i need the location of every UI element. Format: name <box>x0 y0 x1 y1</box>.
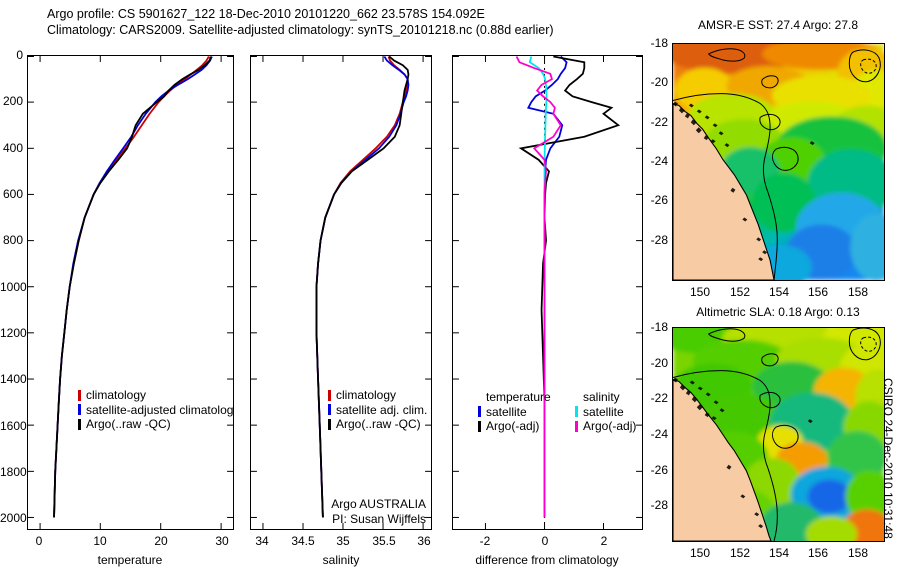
difference-legend-temperature: temperature satellite Argo(-adj) <box>478 390 551 434</box>
temp-ytick-1000: 1000 <box>0 280 23 294</box>
legend-item-satellite-adjusted: satellite adj. clim. <box>328 403 427 418</box>
sst-ytick-28: -28 <box>640 233 668 247</box>
sst-ytick-18: -18 <box>640 36 668 50</box>
temperature-profile-panel <box>27 55 234 530</box>
temp-ytick-400: 400 <box>0 141 23 155</box>
climatology-color-swatch <box>328 390 331 401</box>
legend-item-temp-satellite: satellite <box>478 405 551 420</box>
legend-label-sal-argo: Argo(-adj) <box>583 419 636 434</box>
temperature-climatology-line <box>54 56 209 517</box>
legend-label-argo: Argo(..raw -QC) <box>336 417 421 432</box>
legend-label-temp-satellite: satellite <box>486 405 527 420</box>
difference-plot <box>453 56 642 529</box>
sla-ytick-20: -20 <box>640 356 668 370</box>
difference-panel <box>452 55 643 530</box>
sla-ytick-18: -18 <box>640 320 668 334</box>
temp-xtick-0: 0 <box>36 534 43 548</box>
sst-ytick-24: -24 <box>640 154 668 168</box>
temp-xtick-20: 20 <box>154 534 167 548</box>
salinity-axis-ticks <box>251 56 431 529</box>
diff-xtick-neg2: -2 <box>480 534 491 548</box>
salinity-profile-plot <box>251 56 431 529</box>
sla-map-plot <box>673 328 884 541</box>
temp-xtick-10: 10 <box>93 534 106 548</box>
diff-xtick-0: 0 <box>542 534 549 548</box>
legend-item-argo: Argo(..raw -QC) <box>328 417 427 432</box>
sst-map-plot <box>673 44 884 280</box>
legend-item-climatology: climatology <box>78 388 233 403</box>
sla-ytick-28: -28 <box>640 498 668 512</box>
sla-xtick-150: 150 <box>690 546 710 560</box>
salinity-legend: climatology satellite adj. clim. Argo(..… <box>328 388 427 432</box>
sst-map-title: AMSR-E SST: 27.4 Argo: 27.8 <box>698 18 858 32</box>
salinity-axis-label: salinity <box>323 553 360 567</box>
legend-header-temperature-label: temperature <box>486 390 551 405</box>
temperature-argo-line <box>54 56 211 517</box>
sla-xtick-158: 158 <box>848 546 868 560</box>
legend-item-argo: Argo(..raw -QC) <box>78 417 233 432</box>
temp-ytick-1800: 1800 <box>0 465 23 479</box>
temperature-axis-label: temperature <box>98 553 163 567</box>
sal-xtick-34: 34 <box>255 534 268 548</box>
provider-credit: Argo AUSTRALIA PI: Susan Wijffels <box>278 497 426 527</box>
sla-map-title: Altimetric SLA: 0.18 Argo: 0.13 <box>696 305 859 319</box>
legend-item-climatology: climatology <box>328 388 427 403</box>
temp-ytick-600: 600 <box>0 187 23 201</box>
sla-map-panel <box>672 327 885 542</box>
difference-salinity-argo-line <box>517 56 561 517</box>
sla-xtick-156: 156 <box>808 546 828 560</box>
sst-xtick-154: 154 <box>769 285 789 299</box>
sst-ytick-22: -22 <box>640 115 668 129</box>
salinity-profile-panel <box>250 55 432 530</box>
legend-header-temperature: temperature <box>478 390 551 405</box>
legend-label-climatology: climatology <box>336 388 396 403</box>
argo-color-swatch <box>78 419 81 430</box>
legend-label-satellite-adjusted: satellite-adjusted climatology <box>86 403 233 418</box>
legend-label-temp-argo: Argo(-adj) <box>486 419 539 434</box>
legend-label-sal-satellite: satellite <box>583 405 624 420</box>
legend-item-sal-satellite: satellite <box>575 405 636 420</box>
sst-xtick-150: 150 <box>690 285 710 299</box>
diff-xtick-2: 2 <box>601 534 608 548</box>
sst-xtick-156: 156 <box>808 285 828 299</box>
csiro-timestamp: CSIRO 24-Dec-2010 10:31:48 <box>881 378 895 539</box>
sal-argo-color-swatch <box>575 421 578 432</box>
temperature-profile-plot <box>28 56 233 529</box>
sst-ytick-26: -26 <box>640 193 668 207</box>
sal-xtick-355: 35.5 <box>372 534 395 548</box>
temp-ytick-200: 200 <box>0 94 23 108</box>
temp-ytick-1200: 1200 <box>0 326 23 340</box>
temperature-legend: climatology satellite-adjusted climatolo… <box>78 388 233 438</box>
sst-xtick-152: 152 <box>730 285 750 299</box>
argo-color-swatch <box>328 419 331 430</box>
sal-xtick-35: 35 <box>336 534 349 548</box>
legend-label-climatology: climatology <box>86 388 146 403</box>
sal-xtick-345: 34.5 <box>291 534 314 548</box>
climatology-color-swatch <box>78 390 81 401</box>
temp-satellite-color-swatch <box>478 406 481 417</box>
sal-satellite-color-swatch <box>575 406 578 417</box>
legend-label-satellite-adjusted: satellite adj. clim. <box>336 403 427 418</box>
legend-label-argo: Argo(..raw -QC) <box>86 417 171 432</box>
legend-item-temp-argo: Argo(-adj) <box>478 419 551 434</box>
temp-ytick-1400: 1400 <box>0 372 23 386</box>
temp-ytick-1600: 1600 <box>0 419 23 433</box>
page-title: Argo profile: CS 5901627_122 18-Dec-2010… <box>47 6 667 38</box>
difference-legend-salinity: salinity satellite Argo(-adj) <box>575 390 636 434</box>
sla-xtick-152: 152 <box>730 546 750 560</box>
temperature-axis-ticks <box>28 56 233 529</box>
legend-item-satellite-adjusted: satellite-adjusted climatology <box>78 403 233 418</box>
legend-header-salinity: salinity <box>575 390 636 405</box>
sla-ytick-26: -26 <box>640 463 668 477</box>
sal-xtick-36: 36 <box>417 534 430 548</box>
sla-xtick-154: 154 <box>769 546 789 560</box>
temp-ytick-2000: 2000 <box>0 511 23 525</box>
difference-temperature-argo-line <box>521 56 618 517</box>
satellite-color-swatch <box>78 404 81 415</box>
sla-ytick-24: -24 <box>640 427 668 441</box>
legend-header-salinity-label: salinity <box>583 390 620 405</box>
temp-argo-color-swatch <box>478 421 481 432</box>
satellite-color-swatch <box>328 404 331 415</box>
temp-xtick-30: 30 <box>215 534 228 548</box>
temperature-satellite-adjusted-line <box>54 56 212 517</box>
temp-ytick-800: 800 <box>0 233 23 247</box>
temp-ytick-0: 0 <box>0 48 23 62</box>
sla-ytick-22: -22 <box>640 391 668 405</box>
salinity-climatology-line <box>316 56 407 517</box>
sst-ytick-20: -20 <box>640 75 668 89</box>
legend-item-sal-argo: Argo(-adj) <box>575 419 636 434</box>
difference-axis-label: difference from climatology <box>475 553 618 567</box>
sst-xtick-158: 158 <box>848 285 868 299</box>
sst-map-panel <box>672 43 885 281</box>
